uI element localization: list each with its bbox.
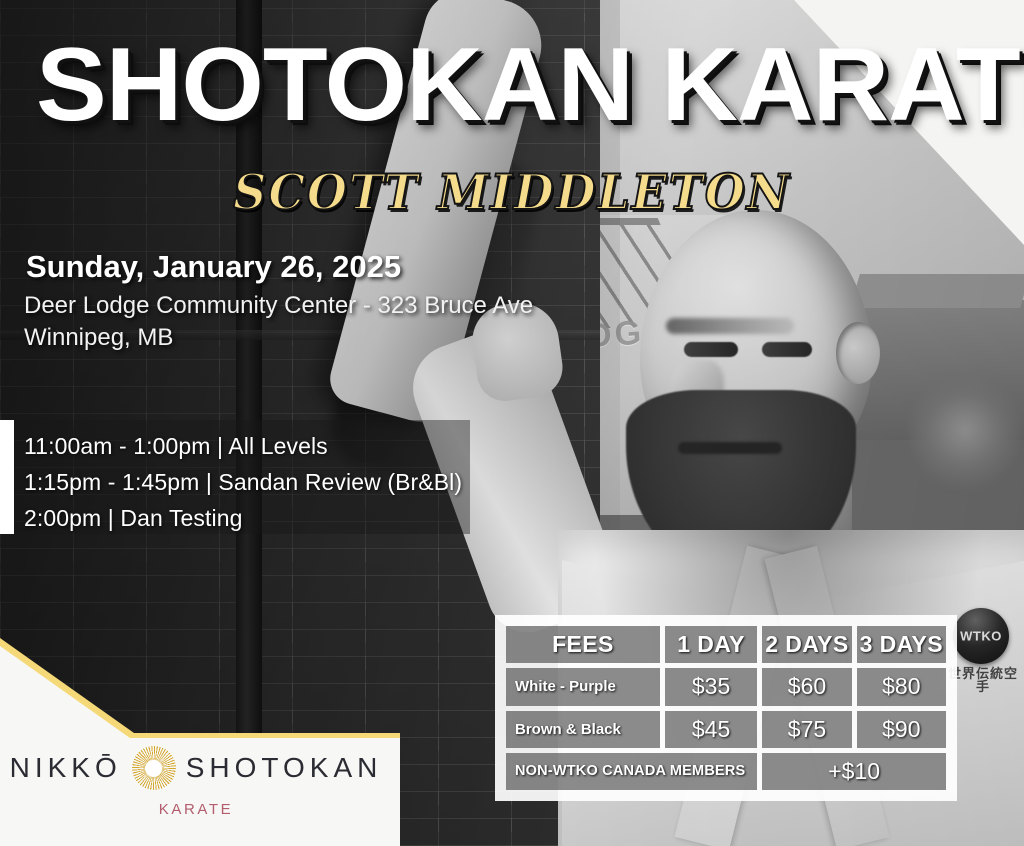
logo-word-nikko: NIKKŌ — [10, 752, 122, 784]
header-2-days: 2 DAYS — [762, 626, 851, 663]
logo-wordmark: NIKKŌ SHOTOKAN — [0, 746, 392, 790]
table-header-row: FEES 1 DAY 2 DAYS 3 DAYS — [506, 626, 946, 663]
venue-line-2: Winnipeg, MB — [24, 322, 533, 354]
seminar-poster: 323 Bruce Ave DEER LODGE COMMUNITY — [0, 0, 1024, 846]
non-member-label: NON-WTKO CANADA MEMBERS — [506, 753, 757, 790]
price-white-purple-3days: $80 — [857, 668, 946, 705]
non-member-surcharge: +$10 — [762, 753, 946, 790]
event-date: Sunday, January 26, 2025 — [26, 250, 401, 284]
header-1-day: 1 DAY — [665, 626, 757, 663]
price-brown-black-2days: $75 — [762, 711, 851, 748]
price-white-purple-2days: $60 — [762, 668, 851, 705]
nikko-shotokan-logo: NIKKŌ SHOTOKAN KARATE — [0, 746, 392, 818]
table-footer-row: NON-WTKO CANADA MEMBERS +$10 — [506, 753, 946, 790]
schedule-item: 2:00pm | Dan Testing — [24, 500, 494, 536]
price-brown-black-3days: $90 — [857, 711, 946, 748]
schedule-item: 11:00am - 1:00pm | All Levels — [24, 428, 494, 464]
header-3-days: 3 DAYS — [857, 626, 946, 663]
schedule-item: 1:15pm - 1:45pm | Sandan Review (Br&Bl) — [24, 464, 494, 500]
price-brown-black-1day: $45 — [665, 711, 757, 748]
table-row: White - Purple $35 $60 $80 — [506, 668, 946, 705]
row-label-white-purple: White - Purple — [506, 668, 660, 705]
logo-tagline: KARATE — [0, 801, 392, 818]
row-label-brown-black: Brown & Black — [506, 711, 660, 748]
price-white-purple-1day: $35 — [665, 668, 757, 705]
table-row: Brown & Black $45 $75 $90 — [506, 711, 946, 748]
header-fees: FEES — [506, 626, 660, 663]
schedule-accent-tab — [0, 420, 14, 534]
event-venue: Deer Lodge Community Center - 323 Bruce … — [24, 290, 533, 353]
sunburst-icon — [132, 746, 176, 790]
instructor-name: SCOTT MIDDLETON — [31, 168, 994, 217]
venue-line-1: Deer Lodge Community Center - 323 Bruce … — [24, 290, 533, 322]
page-title: SHOTOKAN KARATE SEMINAR — [36, 36, 1015, 136]
logo-word-shotokan: SHOTOKAN — [186, 752, 383, 784]
schedule-list: 11:00am - 1:00pm | All Levels 1:15pm - 1… — [24, 428, 494, 536]
fees-table: FEES 1 DAY 2 DAYS 3 DAYS White - Purple … — [495, 615, 957, 801]
